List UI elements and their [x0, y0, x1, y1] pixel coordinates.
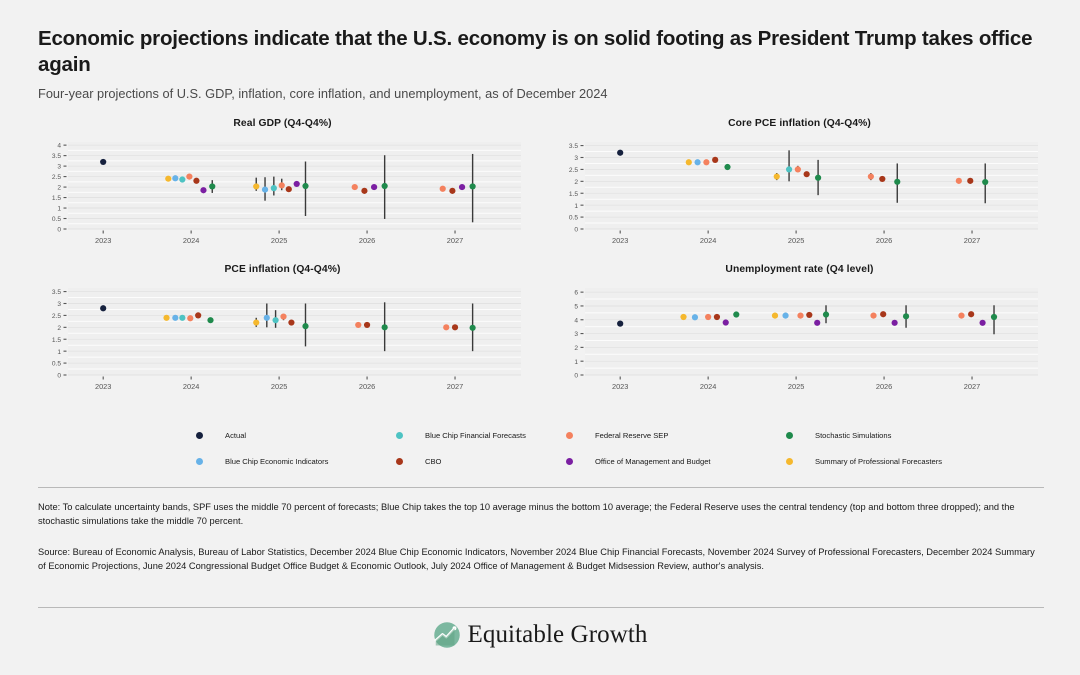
x-tick-label: 2026 — [359, 382, 375, 391]
y-tick-label: 0 — [57, 227, 61, 234]
x-tick-label: 2025 — [271, 382, 287, 391]
data-point-office-of-management-and-budget[interactable] — [814, 320, 820, 326]
data-point-blue-chip-economic-indicators[interactable] — [692, 314, 698, 320]
legend-label: Summary of Professional Forecasters — [815, 457, 942, 466]
x-tick-label: 2025 — [788, 382, 804, 391]
y-tick-label: 0 — [574, 227, 578, 234]
x-tick-label: 2027 — [964, 382, 980, 391]
x-tick-label: 2024 — [183, 382, 199, 391]
data-point-summary-of-professional-forecasters[interactable] — [163, 315, 169, 321]
infographic-page: Economic projections indicate that the U… — [0, 0, 1080, 675]
data-point-actual[interactable] — [617, 150, 623, 156]
x-tick-label: 2024 — [700, 382, 716, 391]
x-tick-label: 2026 — [359, 236, 375, 245]
y-tick-label: 2 — [574, 179, 578, 186]
data-point-cbo[interactable] — [361, 188, 367, 194]
y-tick-label: 1 — [57, 206, 61, 213]
divider-above-note — [38, 487, 1044, 488]
data-point-summary-of-professional-forecasters[interactable] — [772, 313, 778, 319]
header: Economic projections indicate that the U… — [38, 26, 1050, 103]
data-point-cbo[interactable] — [286, 186, 292, 192]
data-point-stochastic-simulations[interactable] — [724, 164, 730, 170]
chart-panel-real-gdp: Real GDP (Q4-Q4%) 00.511.522.533.5420232… — [38, 118, 527, 251]
data-point-federal-reserve-sep[interactable] — [280, 314, 286, 320]
data-point-federal-reserve-sep[interactable] — [355, 322, 361, 328]
data-point-summary-of-professional-forecasters[interactable] — [680, 314, 686, 320]
data-point-federal-reserve-sep[interactable] — [870, 313, 876, 319]
data-point-stochastic-simulations[interactable] — [382, 324, 388, 330]
legend-label: Federal Reserve SEP — [595, 431, 668, 440]
data-point-summary-of-professional-forecasters[interactable] — [253, 183, 259, 189]
x-tick-label: 2023 — [95, 236, 111, 245]
legend-label: Blue Chip Economic Indicators — [225, 457, 328, 466]
legend-item-office-of-management-and-budget[interactable]: Office of Management and Budget — [566, 454, 711, 468]
data-point-actual[interactable] — [100, 305, 106, 311]
y-tick-label: 2.5 — [52, 313, 61, 320]
y-tick-label: 3 — [574, 155, 578, 162]
data-point-office-of-management-and-budget[interactable] — [979, 320, 985, 326]
data-point-cbo[interactable] — [364, 322, 370, 328]
x-tick-label: 2023 — [612, 382, 628, 391]
data-point-cbo[interactable] — [967, 178, 973, 184]
data-point-federal-reserve-sep[interactable] — [956, 178, 962, 184]
y-tick-label: 0.5 — [52, 216, 61, 223]
equitable-growth-logo-icon — [432, 620, 462, 650]
y-tick-label: 2 — [57, 325, 61, 332]
y-tick-label: 0.5 — [569, 215, 578, 222]
data-point-federal-reserve-sep[interactable] — [703, 159, 709, 165]
data-point-office-of-management-and-budget[interactable] — [200, 187, 206, 193]
data-point-stochastic-simulations[interactable] — [207, 317, 213, 323]
data-point-blue-chip-economic-indicators[interactable] — [172, 315, 178, 321]
x-tick-label: 2027 — [447, 382, 463, 391]
data-point-summary-of-professional-forecasters[interactable] — [165, 176, 171, 182]
chart-panel-pce-inflation: PCE inflation (Q4-Q4%) 00.511.522.533.52… — [38, 264, 527, 397]
data-point-blue-chip-financial-forecasts[interactable] — [271, 185, 277, 191]
data-point-cbo[interactable] — [880, 311, 886, 317]
data-point-cbo[interactable] — [195, 312, 201, 318]
x-tick-label: 2023 — [95, 382, 111, 391]
y-tick-label: 3 — [57, 301, 61, 308]
data-point-federal-reserve-sep[interactable] — [187, 315, 193, 321]
y-tick-label: 2.5 — [52, 174, 61, 181]
data-point-blue-chip-financial-forecasts[interactable] — [179, 315, 185, 321]
y-tick-label: 2 — [574, 345, 578, 352]
data-point-cbo[interactable] — [714, 314, 720, 320]
legend-item-cbo[interactable]: CBO — [396, 454, 441, 468]
legend-marker-icon — [396, 458, 403, 465]
scatter-plot-svg: 00.511.522.533.520232024202520262027 — [38, 282, 527, 397]
y-tick-label: 2 — [57, 185, 61, 192]
page-title: Economic projections indicate that the U… — [38, 26, 1050, 78]
source-text: Source: Bureau of Economic Analysis, Bur… — [38, 545, 1044, 574]
legend-marker-icon — [196, 458, 203, 465]
legend: ActualBlue Chip Economic IndicatorsBlue … — [196, 428, 996, 480]
y-tick-label: 3.5 — [52, 153, 61, 160]
data-point-summary-of-professional-forecasters[interactable] — [686, 159, 692, 165]
y-tick-label: 2.5 — [569, 167, 578, 174]
data-point-cbo[interactable] — [806, 312, 812, 318]
chart-panel-unemployment-rate: Unemployment rate (Q4 level) 01234562023… — [555, 264, 1044, 397]
y-tick-label: 3.5 — [52, 289, 61, 296]
data-point-actual[interactable] — [100, 159, 106, 165]
x-tick-label: 2024 — [700, 236, 716, 245]
data-point-federal-reserve-sep[interactable] — [958, 313, 964, 319]
data-point-stochastic-simulations[interactable] — [982, 179, 988, 185]
legend-marker-icon — [566, 432, 573, 439]
y-tick-label: 4 — [574, 317, 578, 324]
data-point-stochastic-simulations[interactable] — [733, 311, 739, 317]
legend-marker-icon — [396, 432, 403, 439]
x-tick-label: 2023 — [612, 236, 628, 245]
data-point-federal-reserve-sep[interactable] — [186, 173, 192, 179]
data-point-cbo[interactable] — [712, 157, 718, 163]
x-tick-label: 2026 — [876, 382, 892, 391]
data-point-blue-chip-economic-indicators[interactable] — [694, 159, 700, 165]
data-point-federal-reserve-sep[interactable] — [443, 324, 449, 330]
data-point-federal-reserve-sep[interactable] — [440, 186, 446, 192]
data-point-blue-chip-economic-indicators[interactable] — [172, 175, 178, 181]
data-point-cbo[interactable] — [288, 319, 294, 325]
x-tick-label: 2025 — [271, 236, 287, 245]
data-point-federal-reserve-sep[interactable] — [352, 184, 358, 190]
x-tick-label: 2027 — [964, 236, 980, 245]
data-point-stochastic-simulations[interactable] — [823, 311, 829, 317]
logo-text: Equitable Growth — [467, 621, 647, 649]
scatter-plot-svg: 012345620232024202520262027 — [555, 282, 1044, 397]
legend-label: Office of Management and Budget — [595, 457, 711, 466]
data-point-stochastic-simulations[interactable] — [382, 183, 388, 189]
panel-title: PCE inflation (Q4-Q4%) — [38, 264, 527, 275]
x-tick-label: 2025 — [788, 236, 804, 245]
data-point-federal-reserve-sep[interactable] — [868, 173, 874, 179]
data-point-blue-chip-economic-indicators[interactable] — [782, 313, 788, 319]
data-point-stochastic-simulations[interactable] — [302, 323, 308, 329]
plot-area: 012345620232024202520262027 — [555, 282, 1044, 397]
chart-panel-core-pce-inflation: Core PCE inflation (Q4-Q4%) 00.511.522.5… — [555, 118, 1044, 251]
panel-title: Real GDP (Q4-Q4%) — [38, 118, 527, 129]
note-text: Note: To calculate uncertainty bands, SP… — [38, 500, 1044, 529]
legend-item-federal-reserve-sep[interactable]: Federal Reserve SEP — [566, 428, 668, 442]
plot-area: 00.511.522.533.5420232024202520262027 — [38, 136, 527, 251]
legend-item-stochastic-simulations[interactable]: Stochastic Simulations — [786, 428, 891, 442]
legend-item-blue-chip-financial-forecasts[interactable]: Blue Chip Financial Forecasts — [396, 428, 526, 442]
data-point-office-of-management-and-budget[interactable] — [892, 320, 898, 326]
data-point-summary-of-professional-forecasters[interactable] — [774, 173, 780, 179]
data-point-federal-reserve-sep[interactable] — [279, 182, 285, 188]
data-point-federal-reserve-sep[interactable] — [797, 313, 803, 319]
data-point-blue-chip-financial-forecasts[interactable] — [786, 166, 792, 172]
data-point-cbo[interactable] — [193, 178, 199, 184]
y-tick-label: 6 — [574, 290, 578, 297]
data-point-stochastic-simulations[interactable] — [302, 183, 308, 189]
legend-label: Blue Chip Financial Forecasts — [425, 431, 526, 440]
page-subtitle: Four-year projections of U.S. GDP, infla… — [38, 86, 1050, 103]
data-point-cbo[interactable] — [449, 188, 455, 194]
data-point-office-of-management-and-budget[interactable] — [459, 184, 465, 190]
y-tick-label: 1 — [574, 203, 578, 210]
y-tick-label: 1 — [57, 349, 61, 356]
panel-title: Core PCE inflation (Q4-Q4%) — [555, 118, 1044, 129]
plot-area: 00.511.522.533.520232024202520262027 — [38, 282, 527, 397]
data-point-blue-chip-economic-indicators[interactable] — [262, 186, 268, 192]
panel-title: Unemployment rate (Q4 level) — [555, 264, 1044, 275]
divider-above-logo — [38, 607, 1044, 608]
data-point-stochastic-simulations[interactable] — [209, 183, 215, 189]
data-point-stochastic-simulations[interactable] — [470, 183, 476, 189]
y-tick-label: 0 — [574, 373, 578, 380]
scatter-plot-svg: 00.511.522.533.520232024202520262027 — [555, 136, 1044, 251]
data-point-federal-reserve-sep[interactable] — [705, 314, 711, 320]
y-tick-label: 1.5 — [569, 191, 578, 198]
y-tick-label: 3 — [57, 164, 61, 171]
y-tick-label: 1.5 — [52, 195, 61, 202]
chart-panels: Real GDP (Q4-Q4%) 00.511.522.533.5420232… — [38, 118, 1044, 403]
y-tick-label: 0 — [57, 373, 61, 380]
data-point-summary-of-professional-forecasters[interactable] — [253, 319, 259, 325]
data-point-stochastic-simulations[interactable] — [894, 179, 900, 185]
data-point-office-of-management-and-budget[interactable] — [723, 319, 729, 325]
legend-item-actual[interactable]: Actual — [196, 428, 246, 442]
x-tick-label: 2026 — [876, 236, 892, 245]
y-tick-label: 1.5 — [52, 337, 61, 344]
data-point-federal-reserve-sep[interactable] — [795, 166, 801, 172]
legend-item-blue-chip-economic-indicators[interactable]: Blue Chip Economic Indicators — [196, 454, 328, 468]
data-point-blue-chip-financial-forecasts[interactable] — [179, 176, 185, 182]
data-point-stochastic-simulations[interactable] — [991, 314, 997, 320]
data-point-cbo[interactable] — [804, 171, 810, 177]
data-point-cbo[interactable] — [452, 324, 458, 330]
legend-label: Stochastic Simulations — [815, 431, 891, 440]
legend-marker-icon — [786, 432, 793, 439]
legend-marker-icon — [566, 458, 573, 465]
y-tick-label: 3.5 — [569, 143, 578, 150]
plot-area: 00.511.522.533.520232024202520262027 — [555, 136, 1044, 251]
data-point-stochastic-simulations[interactable] — [815, 175, 821, 181]
x-tick-label: 2024 — [183, 236, 199, 245]
y-tick-label: 0.5 — [52, 361, 61, 368]
data-point-blue-chip-financial-forecasts[interactable] — [272, 317, 278, 323]
data-point-cbo[interactable] — [968, 311, 974, 317]
data-point-stochastic-simulations[interactable] — [903, 313, 909, 319]
data-point-cbo[interactable] — [879, 176, 885, 182]
data-point-office-of-management-and-budget[interactable] — [371, 184, 377, 190]
y-tick-label: 4 — [57, 143, 61, 150]
legend-label: Actual — [225, 431, 246, 440]
footer-logo: Equitable Growth — [0, 620, 1080, 650]
legend-label: CBO — [425, 457, 441, 466]
data-point-blue-chip-economic-indicators[interactable] — [264, 315, 270, 321]
legend-item-summary-of-professional-forecasters[interactable]: Summary of Professional Forecasters — [786, 454, 942, 468]
legend-marker-icon — [196, 432, 203, 439]
y-tick-label: 1 — [574, 359, 578, 366]
x-tick-label: 2027 — [447, 236, 463, 245]
data-point-stochastic-simulations[interactable] — [470, 325, 476, 331]
scatter-plot-svg: 00.511.522.533.5420232024202520262027 — [38, 136, 527, 251]
legend-marker-icon — [786, 458, 793, 465]
y-tick-label: 5 — [574, 304, 578, 311]
data-point-actual[interactable] — [617, 321, 623, 327]
data-point-office-of-management-and-budget[interactable] — [294, 181, 300, 187]
y-tick-label: 3 — [574, 331, 578, 338]
